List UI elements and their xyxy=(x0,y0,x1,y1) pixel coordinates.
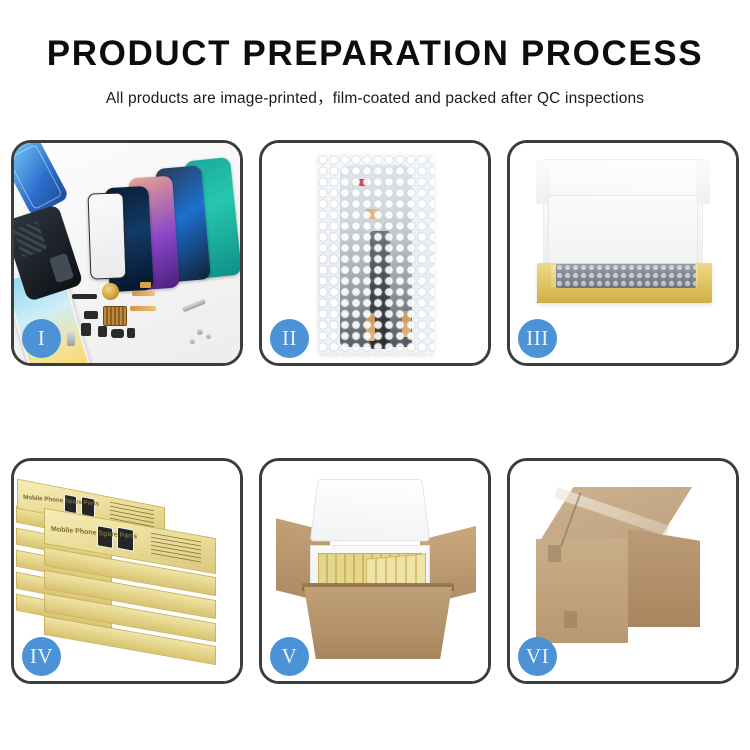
part-screw-3 xyxy=(190,339,195,344)
step-badge-5: V xyxy=(270,637,309,676)
part-camera-module xyxy=(111,329,124,338)
part-chip-small-1 xyxy=(84,311,98,319)
part-screw-1 xyxy=(197,329,203,335)
part-tweezers xyxy=(182,299,206,313)
product-preparation-process-page: PRODUCT PREPARATION PROCESS All products… xyxy=(0,0,750,750)
screen-protector-blue xyxy=(14,143,70,217)
part-flex-cable-2 xyxy=(130,306,156,311)
step-badge-1: I xyxy=(22,319,61,358)
page-subtitle: All products are image-printed，film-coat… xyxy=(0,86,750,108)
carton-front-wall xyxy=(304,587,452,659)
process-steps-grid: I xyxy=(11,140,739,684)
part-ic-chip-grid xyxy=(103,306,127,326)
step-panel-4: Mobile Phone Spare Parts Mobile Phone Sp… xyxy=(11,458,243,684)
step-panel-5: V xyxy=(259,458,491,684)
step-badge-6: VI xyxy=(518,637,557,676)
part-gold-connector xyxy=(140,282,151,288)
white-foam-liner xyxy=(548,195,698,271)
step-badge-2: II xyxy=(270,319,309,358)
part-vibration-motor xyxy=(102,283,119,300)
carton-tab-upper xyxy=(548,545,561,562)
bubble-texture-overlay xyxy=(318,155,434,355)
carton-side-face xyxy=(628,529,700,627)
step-badge-4: IV xyxy=(22,637,61,676)
gray-bubble-wrapped-item xyxy=(556,264,696,288)
tempered-glass-film xyxy=(88,192,127,279)
carton-tab-lower xyxy=(564,611,577,628)
page-title: PRODUCT PREPARATION PROCESS xyxy=(0,36,750,73)
step-panel-1: I xyxy=(11,140,243,366)
part-chip-small-2 xyxy=(81,323,91,336)
phone-back-housing xyxy=(14,204,84,302)
part-speaker-mesh xyxy=(72,294,97,299)
step-panel-2: II xyxy=(259,140,491,366)
step-panel-6: VI xyxy=(507,458,739,684)
foam-box-lid xyxy=(310,479,431,541)
part-sim-tray xyxy=(67,332,75,346)
part-chip-small-4 xyxy=(127,328,135,338)
step-badge-3: III xyxy=(518,319,557,358)
part-flex-cable-1 xyxy=(132,291,155,296)
page-header: PRODUCT PREPARATION PROCESS All products… xyxy=(0,0,750,108)
bubble-wrap-bag xyxy=(318,155,434,355)
step-panel-3: III xyxy=(507,140,739,366)
part-screw-2 xyxy=(206,334,211,339)
part-chip-small-3 xyxy=(98,326,107,337)
